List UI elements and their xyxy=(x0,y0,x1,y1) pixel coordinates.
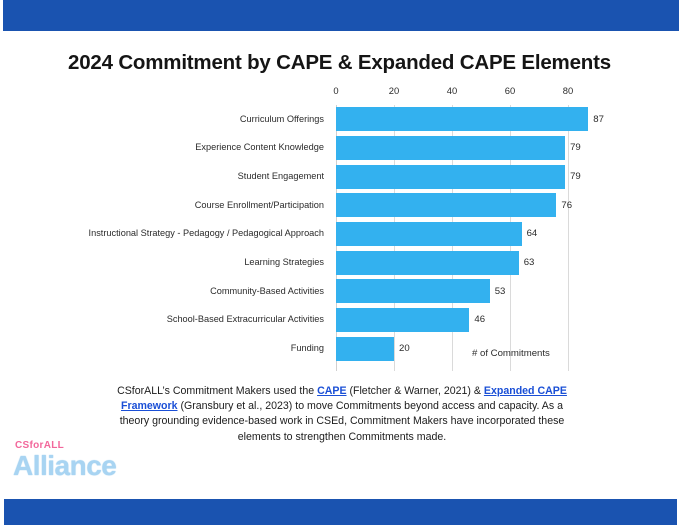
x-axis-ticks: 020406080 xyxy=(336,86,597,105)
bar[interactable] xyxy=(336,222,522,246)
bar-row[interactable]: 79 xyxy=(336,162,597,191)
category-label: Student Engagement xyxy=(0,162,330,191)
x-tick-label: 60 xyxy=(505,86,515,95)
slide-canvas: 2024 Commitment by CAPE & Expanded CAPE … xyxy=(0,0,679,525)
bar-value-label: 79 xyxy=(570,172,581,182)
x-tick-label: 0 xyxy=(333,86,338,95)
bar-value-label: 76 xyxy=(561,201,572,211)
bar-row[interactable]: 76 xyxy=(336,191,597,220)
bar-row[interactable]: 63 xyxy=(336,248,597,277)
bar-row[interactable]: 20 xyxy=(336,334,597,363)
caption-part-2: (Fletcher & Warner, 2021) & xyxy=(347,385,484,397)
category-label: Community-Based Activities xyxy=(0,277,330,306)
bar-value-label: 79 xyxy=(570,143,581,153)
bar[interactable] xyxy=(336,165,565,189)
bar[interactable] xyxy=(336,136,565,160)
bar[interactable] xyxy=(336,308,469,332)
category-label: Learning Strategies xyxy=(0,248,330,277)
x-axis-title: # of Commitments xyxy=(472,348,550,359)
bar[interactable] xyxy=(336,193,556,217)
top-accent-bar xyxy=(3,0,679,31)
category-label: Experience Content Knowledge xyxy=(0,134,330,163)
bar-row[interactable]: 64 xyxy=(336,220,597,249)
bar[interactable] xyxy=(336,337,394,361)
category-label: School-Based Extracurricular Activities xyxy=(0,306,330,335)
x-tick-label: 20 xyxy=(389,86,399,95)
bar-value-label: 46 xyxy=(474,315,485,325)
x-tick-label: 40 xyxy=(447,86,457,95)
bar-row[interactable]: 87 xyxy=(336,105,597,134)
caption-part-1: CSforALL’s Commitment Makers used the xyxy=(117,385,317,397)
x-tick-label: 80 xyxy=(563,86,573,95)
bar[interactable] xyxy=(336,251,519,275)
bar-row[interactable]: 46 xyxy=(336,306,597,335)
logo-alliance-text: Alliance xyxy=(13,452,133,480)
caption-part-3: (Gransbury et al., 2023) to move Commitm… xyxy=(120,400,565,442)
bar-value-label: 20 xyxy=(399,344,410,354)
category-label: Instructional Strategy - Pedagogy / Peda… xyxy=(0,220,330,249)
bar-series: 877979766463534620 xyxy=(336,105,597,363)
bar-row[interactable]: 53 xyxy=(336,277,597,306)
bar-chart: Curriculum OfferingsExperience Content K… xyxy=(0,86,679,371)
category-axis-labels: Curriculum OfferingsExperience Content K… xyxy=(0,105,330,363)
bottom-accent-bar xyxy=(4,499,677,525)
bar-value-label: 63 xyxy=(524,258,535,268)
caption-text: CSforALL’s Commitment Makers used the CA… xyxy=(112,384,572,445)
bar-row[interactable]: 79 xyxy=(336,134,597,163)
bar[interactable] xyxy=(336,279,490,303)
bar-value-label: 87 xyxy=(593,115,604,125)
cape-link[interactable]: CAPE xyxy=(317,385,346,397)
category-label: Funding xyxy=(0,334,330,363)
category-label: Course Enrollment/Participation xyxy=(0,191,330,220)
plot-area: 020406080 877979766463534620 # of Commit… xyxy=(336,86,597,371)
csforall-alliance-logo: CSforALL Alliance xyxy=(13,441,133,485)
category-label: Curriculum Offerings xyxy=(0,105,330,134)
bar-value-label: 64 xyxy=(527,229,538,239)
bar[interactable] xyxy=(336,107,588,131)
bar-value-label: 53 xyxy=(495,287,506,297)
page-title: 2024 Commitment by CAPE & Expanded CAPE … xyxy=(0,51,679,75)
